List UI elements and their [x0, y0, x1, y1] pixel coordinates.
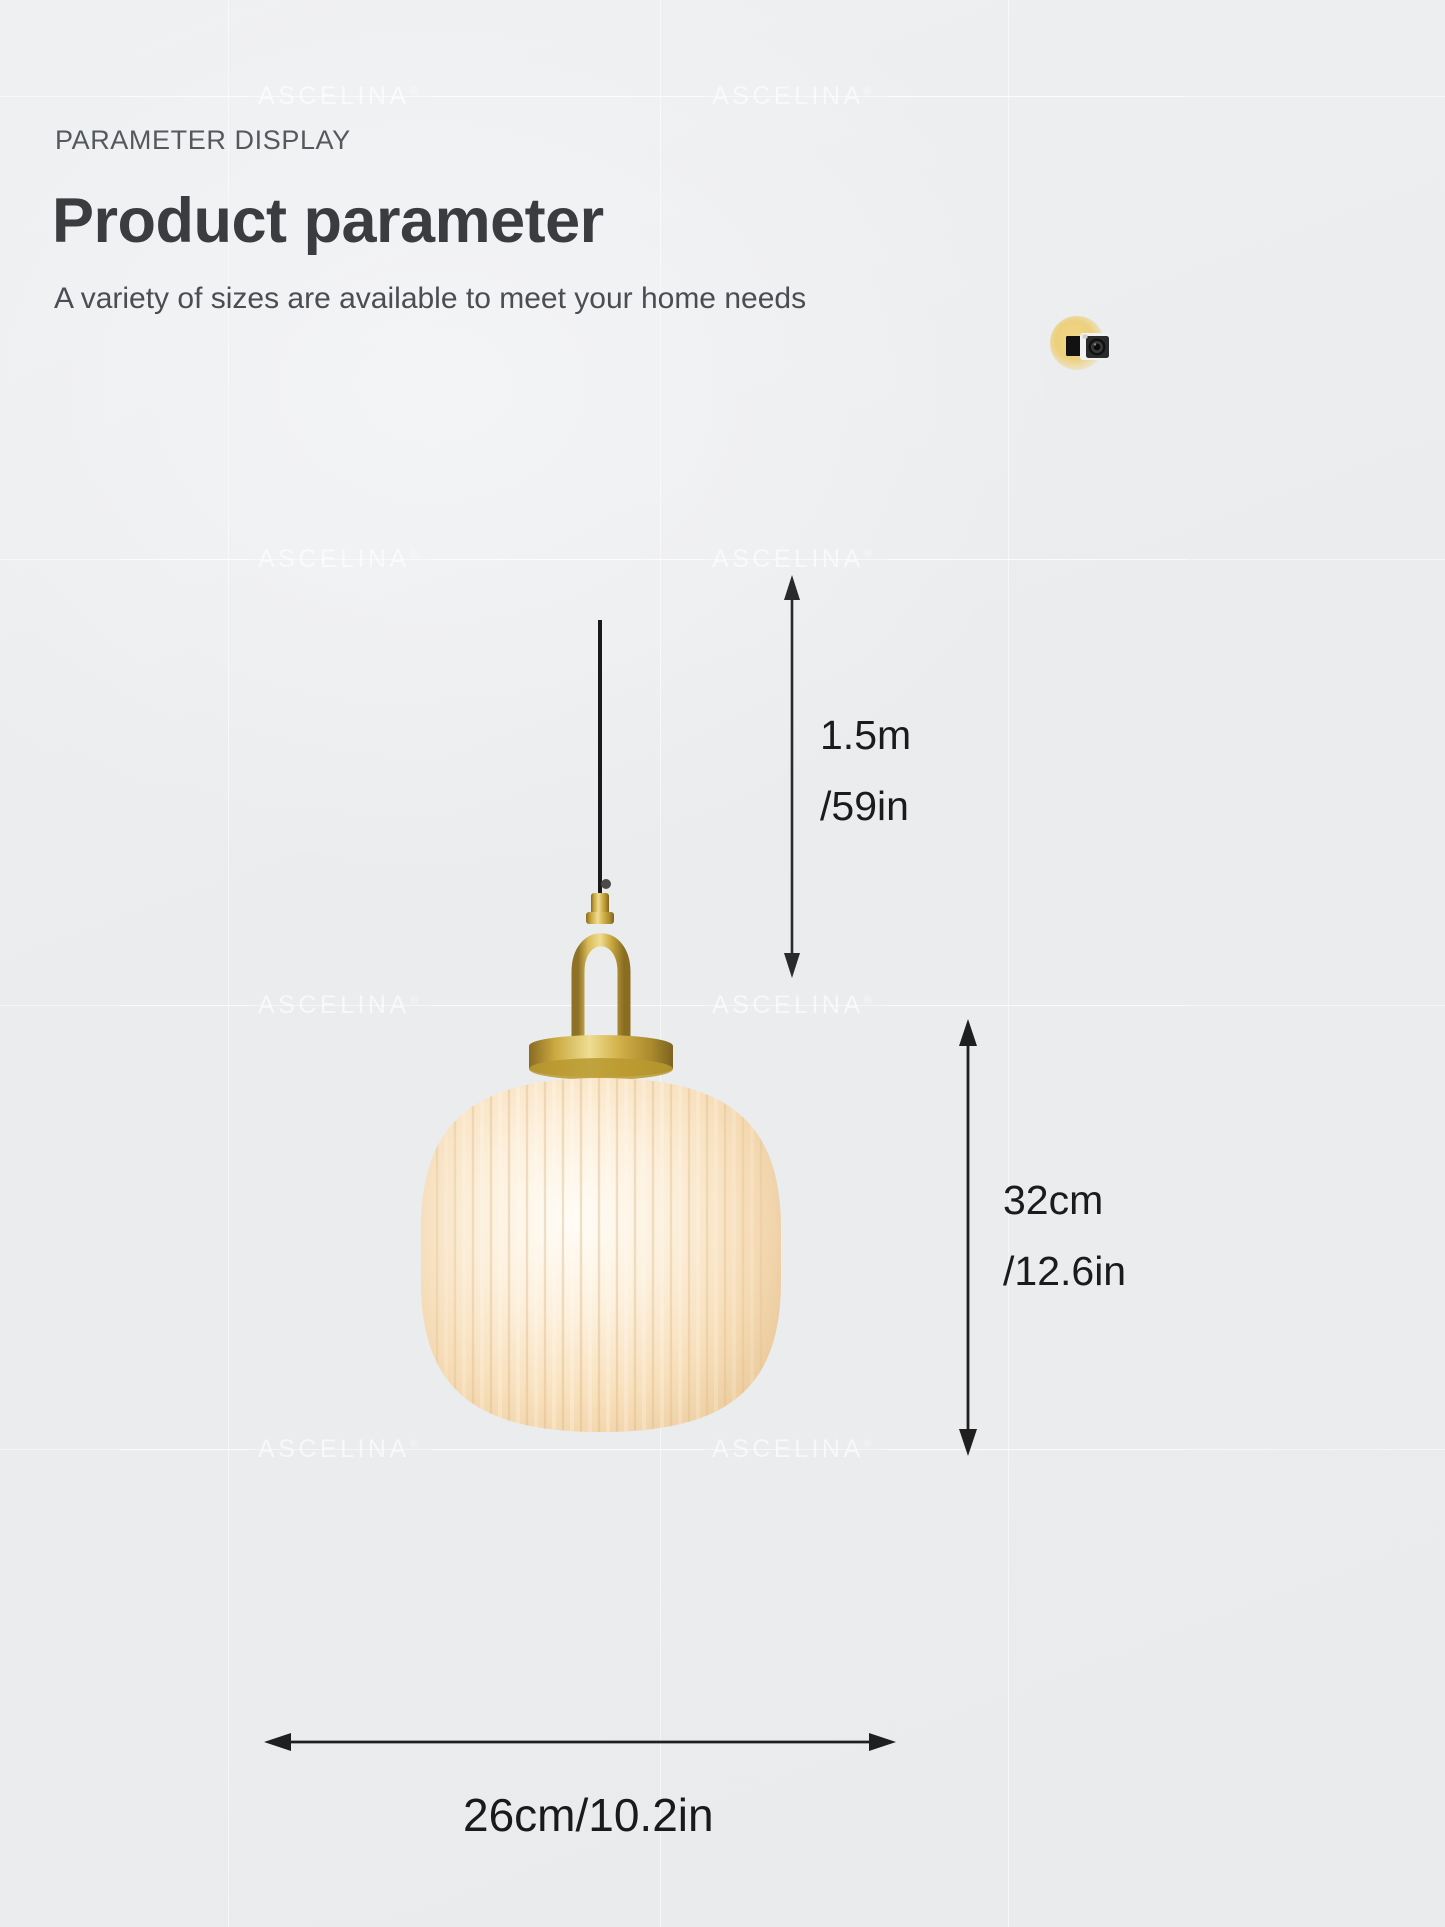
watermark-label: ASCELINA: [712, 82, 864, 110]
watermark-label: ASCELINA: [712, 991, 864, 1019]
watermark-label: ASCELINA: [258, 82, 410, 110]
watermark-registered: ®: [864, 995, 872, 1007]
product-parameter-page: ASCELINA® ASCELINA® ASCELINA® ASCELINA® …: [0, 0, 1445, 1927]
watermark-ascelina: ASCELINA®: [712, 991, 872, 1020]
watermark-rule: [886, 96, 1186, 97]
watermark-rule: [432, 1449, 704, 1450]
watermark-ascelina: ASCELINA®: [258, 1435, 418, 1464]
watermark-rule: [886, 1005, 1186, 1006]
shade-collar: [529, 1046, 673, 1077]
shade-collar-top: [529, 1035, 673, 1057]
guide-line-vertical: [1008, 0, 1009, 1927]
cord-length-metric: 1.5m: [820, 700, 911, 771]
watermark-rule: [886, 559, 1186, 560]
watermark-registered: ®: [410, 549, 418, 561]
watermark-registered: ®: [410, 86, 418, 98]
watermark-rule: [432, 1005, 704, 1006]
watermark-rule: [432, 96, 704, 97]
glass-shade: [421, 1078, 781, 1432]
cord-length-label: 1.5m /59in: [820, 700, 911, 841]
watermark-rule: [120, 559, 250, 560]
cord-connector: [591, 893, 609, 919]
watermark-label: ASCELINA: [258, 1435, 410, 1463]
watermark-label: ASCELINA: [712, 545, 864, 573]
watermark-rule: [432, 559, 704, 560]
watermark-registered: ®: [864, 549, 872, 561]
shade-height-label: 32cm /12.6in: [1003, 1165, 1126, 1306]
camera-badge[interactable]: [1050, 316, 1110, 376]
watermark-rule: [120, 1449, 250, 1450]
section-eyebrow: PARAMETER DISPLAY: [55, 125, 351, 156]
watermark-registered: ®: [410, 1439, 418, 1451]
watermark-ascelina: ASCELINA®: [258, 545, 418, 574]
camera-icon: [1066, 332, 1110, 362]
watermark-ascelina: ASCELINA®: [258, 991, 418, 1020]
watermark-ascelina: ASCELINA®: [712, 82, 872, 111]
shade-width-label: 26cm/10.2in: [463, 1788, 714, 1842]
watermark-ascelina: ASCELINA®: [712, 545, 872, 574]
cord-length-imperial: /59in: [820, 771, 911, 842]
lamp-cord: [598, 620, 602, 906]
watermark-rule: [120, 96, 250, 97]
watermark-label: ASCELINA: [258, 545, 410, 573]
watermark-label: ASCELINA: [712, 1435, 864, 1463]
watermark-ascelina: ASCELINA®: [712, 1435, 872, 1464]
watermark-registered: ®: [864, 86, 872, 98]
dimension-shade-width: [264, 1733, 896, 1751]
brass-arch-handle: [578, 940, 624, 1048]
page-title: Product parameter: [52, 185, 604, 257]
shade-ribs: [421, 1060, 781, 1460]
watermark-ascelina: ASCELINA®: [258, 82, 418, 111]
watermark-rule: [120, 1005, 250, 1006]
watermark-registered: ®: [864, 1439, 872, 1451]
page-subtitle: A variety of sizes are available to meet…: [54, 282, 806, 316]
dimension-cord-length: [784, 575, 800, 978]
watermark-label: ASCELINA: [258, 991, 410, 1019]
shade-height-metric: 32cm: [1003, 1165, 1126, 1236]
watermark-registered: ®: [410, 995, 418, 1007]
watermark-rule: [886, 1449, 1186, 1450]
shade-height-imperial: /12.6in: [1003, 1236, 1126, 1307]
dimension-shade-height: [959, 1019, 977, 1456]
